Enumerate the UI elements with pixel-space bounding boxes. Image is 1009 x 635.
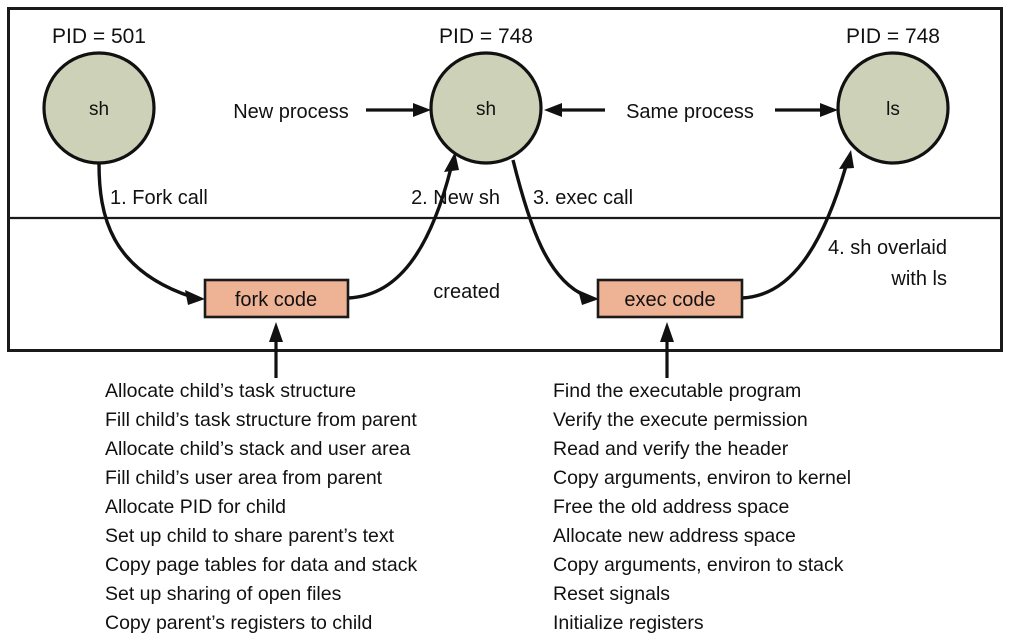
exec-detail-list: Find the executable program Verify the e… — [553, 380, 851, 634]
exec-list-item: Allocate new address space — [553, 525, 796, 547]
diagram-canvas: PID = 501 PID = 748 PID = 748 sh sh ls N… — [0, 0, 1009, 635]
fork-list-item: Allocate PID for child — [105, 496, 286, 518]
flow-exec-call — [513, 160, 586, 296]
flow-sh-overlaid — [742, 166, 846, 298]
fork-list-item: Set up sharing of open files — [105, 583, 342, 605]
new-process-arrow-head — [413, 103, 431, 117]
process-name-child-sh: sh — [476, 99, 496, 120]
exec-list-item: Copy arguments, environ to stack — [553, 554, 844, 576]
exec-list-arrow-head — [660, 322, 674, 342]
exec-list-item: Verify the execute permission — [553, 409, 808, 431]
step-label-2-line2: created — [433, 281, 500, 303]
fork-detail-list: Allocate child’s task structure Fill chi… — [105, 380, 417, 634]
exec-list-item: Initialize registers — [553, 612, 704, 634]
flow-fork-call — [99, 163, 192, 297]
fork-list-item: Copy page tables for data and stack — [105, 554, 417, 576]
exec-list-item: Copy arguments, environ to kernel — [553, 467, 851, 489]
fork-list-item: Copy parent’s registers to child — [105, 612, 372, 634]
step-label-2-line1: 2. New sh — [411, 187, 500, 209]
fork-list-item: Fill child’s task structure from parent — [105, 409, 417, 431]
step-label-1-fork-call: 1. Fork call — [110, 187, 208, 209]
pid-label-parent-sh: PID = 501 — [52, 25, 146, 48]
exec-list-item: Free the old address space — [553, 496, 789, 518]
fork-list-item: Set up child to share parent’s text — [105, 525, 395, 547]
fork-list-item: Fill child’s user area from parent — [105, 467, 383, 489]
exec-list-item: Read and verify the header — [553, 438, 789, 460]
step-label-4-line1: 4. sh overlaid — [828, 237, 947, 259]
pid-label-child-sh: PID = 748 — [439, 25, 533, 48]
fork-list-item: Allocate child’s task structure — [105, 380, 356, 402]
same-process-left-arrow-head — [544, 103, 562, 117]
step-label-3-exec-call: 3. exec call — [533, 187, 633, 209]
process-name-parent-sh: sh — [89, 99, 109, 120]
process-name-child-ls: ls — [886, 99, 900, 120]
fork-list-item: Allocate child’s stack and user area — [105, 438, 410, 460]
flow-sh-overlaid-arrowhead — [839, 150, 854, 169]
process-creation-diagram: PID = 501 PID = 748 PID = 748 sh sh ls N… — [0, 0, 1009, 635]
flow-exec-call-arrowhead — [578, 290, 599, 305]
code-box-label-fork: fork code — [235, 289, 317, 311]
edge-label-new-process: New process — [233, 101, 349, 123]
exec-list-item: Find the executable program — [553, 380, 801, 402]
fork-list-arrow-head — [269, 322, 283, 342]
pid-label-child-ls: PID = 748 — [846, 25, 940, 48]
same-process-right-arrow-head — [820, 103, 838, 117]
code-box-label-exec: exec code — [624, 289, 715, 311]
edge-label-same-process: Same process — [626, 101, 754, 123]
flow-fork-call-arrowhead — [185, 290, 205, 305]
step-label-4-line2: with ls — [890, 268, 947, 290]
exec-list-item: Reset signals — [553, 583, 670, 605]
